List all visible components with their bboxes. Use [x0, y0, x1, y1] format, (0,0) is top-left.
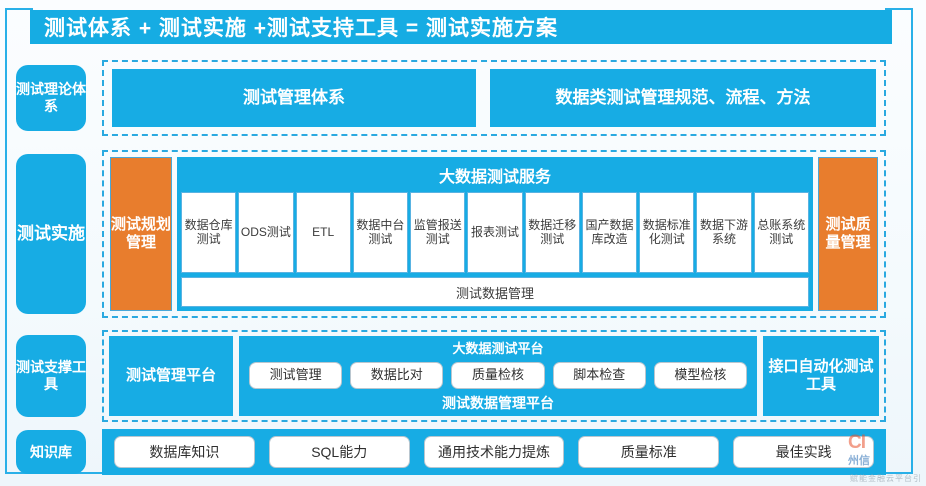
panel-test-quality-management[interactable]: 测试质量管理: [818, 157, 878, 311]
slide-canvas: 测试体系 + 测试实施 +测试支持工具 = 测试实施方案 测试理论体系 测试管理…: [0, 0, 926, 486]
platform-chip-list: 测试管理 数据比对 质量检核 脚本检查 模型检核: [245, 361, 751, 390]
service-cell[interactable]: 国产数据库改造: [582, 192, 637, 273]
knowledge-chip[interactable]: 最佳实践: [733, 436, 874, 468]
big-data-test-platform-panel: 大数据测试平台 测试管理 数据比对 质量检核 脚本检查 模型检核 测试数据管理平…: [239, 336, 757, 416]
platform-chip[interactable]: 数据比对: [350, 362, 443, 389]
service-cell[interactable]: 数据下游系统: [696, 192, 751, 273]
theory-box-data-standards[interactable]: 数据类测试管理规范、流程、方法: [490, 69, 876, 127]
service-cell[interactable]: 数据中台测试: [353, 192, 408, 273]
sidebar-item-theory[interactable]: 测试理论体系: [16, 65, 86, 131]
service-cell-list: 数据仓库测试 ODS测试 ETL 数据中台测试 监管报送测试 报表测试 数据迁移…: [181, 192, 809, 273]
service-cell[interactable]: 总账系统测试: [754, 192, 809, 273]
theory-box-management-system[interactable]: 测试管理体系: [112, 69, 476, 127]
service-cell[interactable]: 数据仓库测试: [181, 192, 236, 273]
sidebar-item-support-tools[interactable]: 测试支撑工具: [16, 335, 86, 417]
knowledge-chip-list: 数据库知识 SQL能力 通用技术能力提炼 质量标准 最佳实践: [102, 429, 886, 475]
watermark-tagline: 赋能金融云平台引: [850, 473, 922, 484]
page-title: 测试体系 + 测试实施 +测试支持工具 = 测试实施方案: [30, 10, 892, 44]
section-implementation: 测试实施 测试规划管理 大数据测试服务 数据仓库测试 ODS测试 ETL 数据中…: [14, 146, 904, 322]
page-title-text: 测试体系 + 测试实施 +测试支持工具 = 测试实施方案: [30, 12, 558, 42]
tools-container: 测试管理平台 大数据测试平台 测试管理 数据比对 质量检核 脚本检查 模型检核 …: [102, 330, 886, 422]
panel-test-management-platform[interactable]: 测试管理平台: [109, 336, 233, 416]
service-cell[interactable]: 报表测试: [467, 192, 522, 273]
platform-panel-title: 大数据测试平台: [245, 338, 751, 357]
big-data-test-service-panel: 大数据测试服务 数据仓库测试 ODS测试 ETL 数据中台测试 监管报送测试 报…: [177, 157, 813, 311]
knowledge-chip[interactable]: 质量标准: [578, 436, 719, 468]
section-theory: 测试理论体系 测试管理体系 数据类测试管理规范、流程、方法: [14, 56, 904, 140]
sidebar-item-knowledge-base[interactable]: 知识库: [16, 430, 86, 474]
service-cell[interactable]: 数据迁移测试: [525, 192, 580, 273]
service-cell[interactable]: ODS测试: [238, 192, 293, 273]
knowledge-chip[interactable]: 通用技术能力提炼: [424, 436, 565, 468]
panel-interface-automation-tool[interactable]: 接口自动化测试工具: [763, 336, 879, 416]
platform-chip[interactable]: 脚本检查: [553, 362, 646, 389]
sidebar-item-implementation[interactable]: 测试实施: [16, 154, 86, 314]
section-knowledge-base: 知识库 数据库知识 SQL能力 通用技术能力提炼 质量标准 最佳实践: [14, 426, 904, 478]
knowledge-chip[interactable]: 数据库知识: [114, 436, 255, 468]
service-cell[interactable]: 监管报送测试: [410, 192, 465, 273]
service-footer-test-data-management[interactable]: 测试数据管理: [181, 277, 809, 307]
implementation-container: 测试规划管理 大数据测试服务 数据仓库测试 ODS测试 ETL 数据中台测试 监…: [102, 150, 886, 318]
panel-test-planning-management[interactable]: 测试规划管理: [110, 157, 172, 311]
service-panel-title: 大数据测试服务: [181, 160, 809, 192]
theory-container: 测试管理体系 数据类测试管理规范、流程、方法: [102, 60, 886, 136]
frame-top-left-tick: [5, 8, 33, 10]
platform-footer-test-data-platform: 测试数据管理平台: [245, 393, 751, 413]
knowledge-chip[interactable]: SQL能力: [269, 436, 410, 468]
platform-chip[interactable]: 质量检核: [451, 362, 544, 389]
service-cell[interactable]: 数据标准化测试: [639, 192, 694, 273]
section-support-tools: 测试支撑工具 测试管理平台 大数据测试平台 测试管理 数据比对 质量检核 脚本检…: [14, 328, 904, 424]
platform-chip[interactable]: 模型检核: [654, 362, 747, 389]
service-cell[interactable]: ETL: [296, 192, 351, 273]
platform-chip[interactable]: 测试管理: [249, 362, 342, 389]
